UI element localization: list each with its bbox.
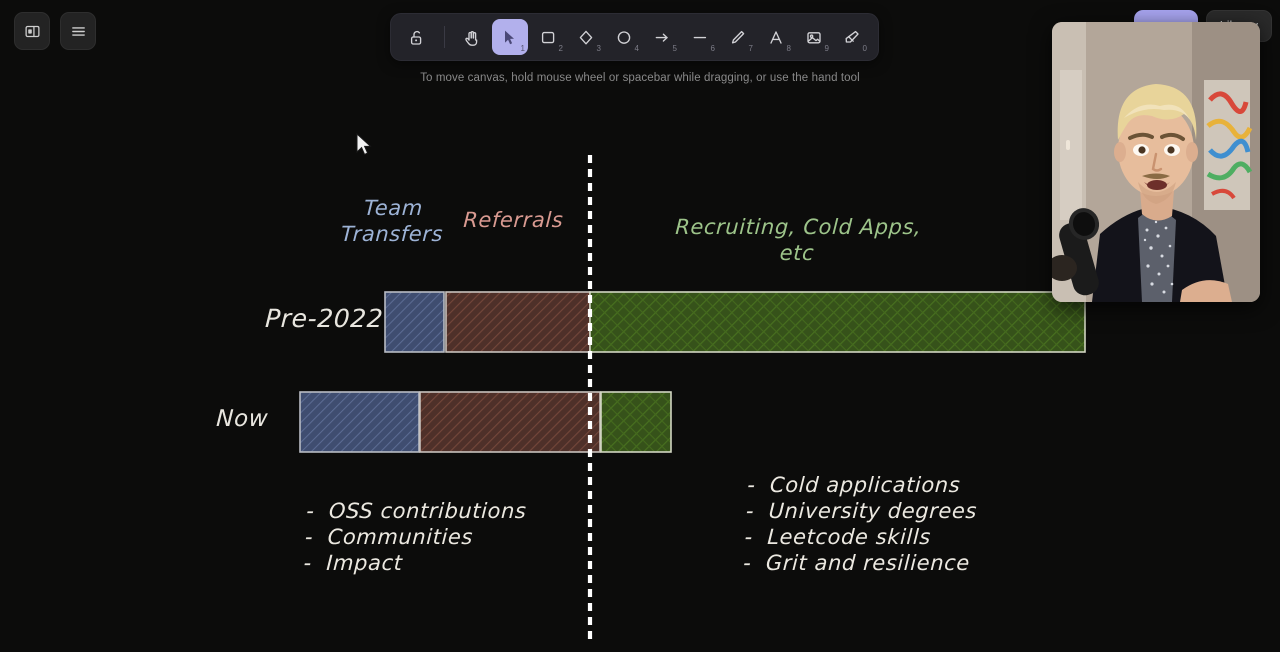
pencil-icon — [729, 28, 747, 47]
tool-shortcut-number: 0 — [863, 45, 867, 53]
tool-shortcut-number: 2 — [559, 45, 563, 53]
tool-shortcut-number: 6 — [711, 45, 715, 53]
tool-text[interactable]: 8 — [758, 19, 794, 55]
hamburger-menu-icon — [70, 23, 87, 40]
tool-shortcut-number: 8 — [787, 45, 791, 53]
app-root: Team TransfersReferralsRecruiting, Cold … — [0, 0, 1280, 652]
hand-icon — [463, 28, 481, 47]
tool-shortcut-number: 3 — [597, 45, 601, 53]
text-icon — [767, 28, 785, 47]
tool-shortcut-number: 4 — [635, 45, 639, 53]
main-toolbar: 1234567890 — [390, 13, 879, 61]
tool-line[interactable]: 6 — [682, 19, 718, 55]
webcam-video-frame — [1052, 22, 1260, 302]
sidebar-toggle-button[interactable] — [14, 12, 50, 50]
line-icon — [691, 28, 709, 47]
tool-selection[interactable]: 1 — [492, 19, 528, 55]
eraser-icon — [843, 28, 861, 47]
image-icon — [805, 28, 823, 47]
diamond-icon — [577, 28, 595, 47]
panel-toggle-icon — [24, 23, 41, 40]
top-left-controls — [14, 12, 96, 50]
menu-button[interactable] — [60, 12, 96, 50]
webcam-overlay[interactable] — [1052, 22, 1260, 302]
tool-eraser[interactable]: 0 — [834, 19, 870, 55]
tool-shortcut-number: 9 — [825, 45, 829, 53]
tool-arrow[interactable]: 5 — [644, 19, 680, 55]
tool-shortcut-number: 1 — [521, 45, 525, 53]
rectangle-icon — [539, 28, 557, 47]
tool-shortcut-number: 7 — [749, 45, 753, 53]
tool-hand[interactable] — [454, 19, 490, 55]
cursor-icon — [501, 28, 519, 47]
tool-image[interactable]: 9 — [796, 19, 832, 55]
tool-ellipse[interactable]: 4 — [606, 19, 642, 55]
lock-icon — [408, 28, 426, 47]
tool-diamond[interactable]: 3 — [568, 19, 604, 55]
ellipse-icon — [615, 28, 633, 47]
toolbar-separator — [444, 26, 445, 48]
tool-draw[interactable]: 7 — [720, 19, 756, 55]
tool-shortcut-number: 5 — [673, 45, 677, 53]
mouse-cursor — [355, 133, 373, 157]
arrow-icon — [653, 28, 671, 47]
tool-lock[interactable] — [399, 19, 435, 55]
tool-rectangle[interactable]: 2 — [530, 19, 566, 55]
